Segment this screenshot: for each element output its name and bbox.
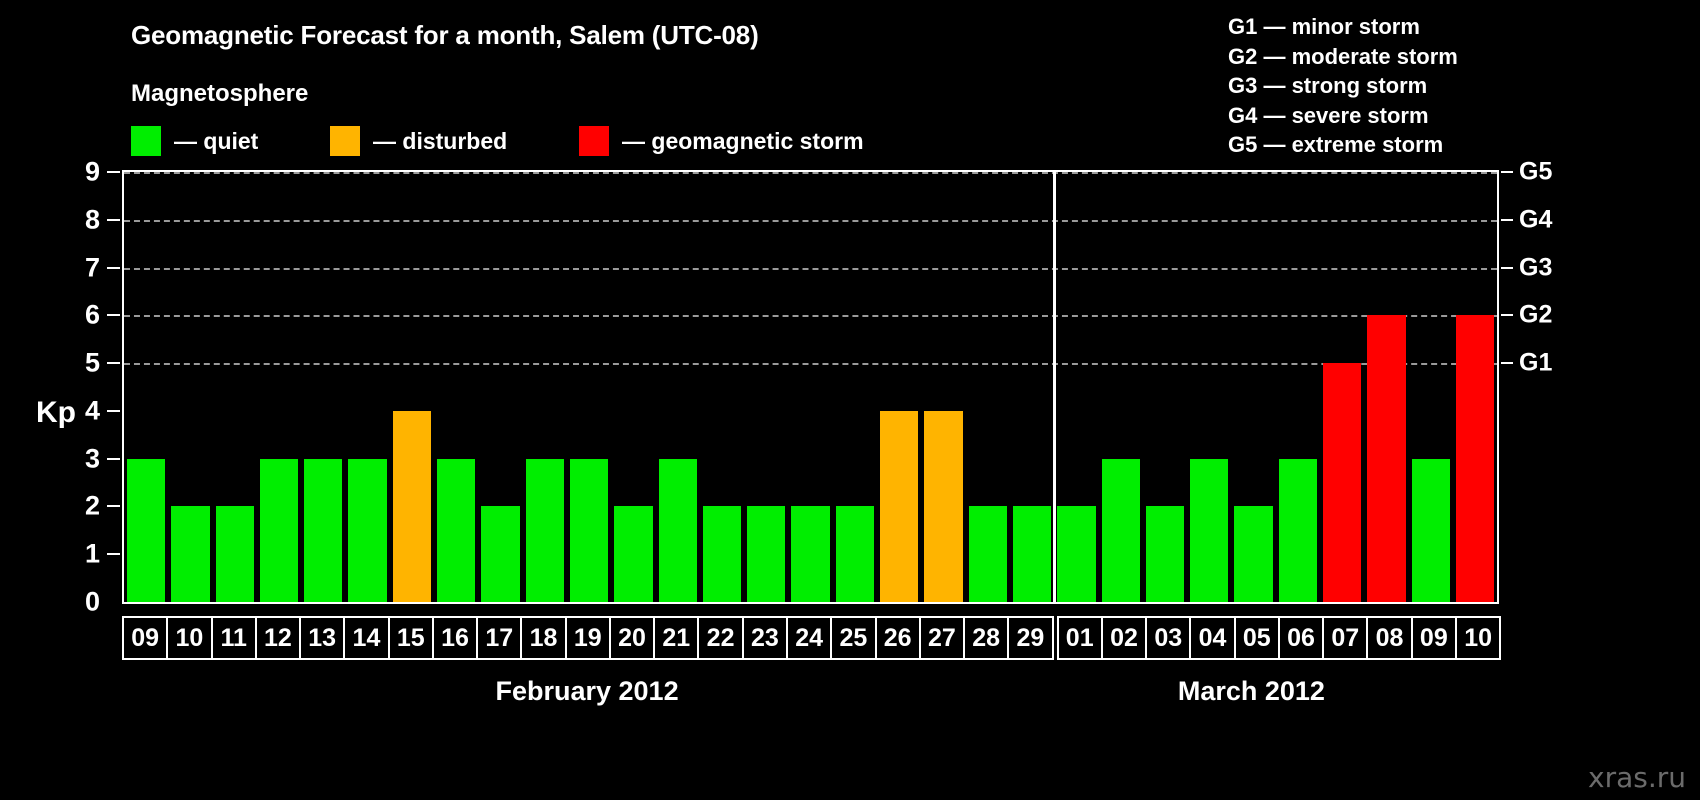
chart-root: Geomagnetic Forecast for a month, Salem …: [0, 0, 1700, 800]
gscale-legend-line-1: G1 — minor storm: [1228, 12, 1458, 42]
bar-slot: [168, 172, 212, 602]
legend-label-quiet: — quiet: [174, 128, 258, 155]
bar-february-21[interactable]: [659, 459, 697, 602]
bar-march-04[interactable]: [1190, 459, 1228, 602]
y-tick-label-7: 7: [85, 252, 100, 283]
date-cell-february-09[interactable]: 09: [122, 616, 168, 660]
g-scale-axis: G1G2G3G4G5: [1501, 170, 1700, 604]
bar-slot: [213, 172, 257, 602]
bar-february-27[interactable]: [924, 411, 962, 602]
legend-swatch-disturbed: [330, 126, 360, 156]
y-tick-label-8: 8: [85, 204, 100, 235]
date-cell-march-02[interactable]: 02: [1101, 616, 1147, 660]
bar-slot: [434, 172, 478, 602]
date-cell-february-17[interactable]: 17: [476, 616, 522, 660]
bar-february-13[interactable]: [304, 459, 342, 602]
date-cell-february-24[interactable]: 24: [786, 616, 832, 660]
bar-february-11[interactable]: [216, 506, 254, 602]
y-tick-label-9: 9: [85, 157, 100, 188]
g-tick-label-G1: G1: [1519, 349, 1552, 378]
bar-slot: [966, 172, 1010, 602]
gscale-legend: G1 — minor stormG2 — moderate stormG3 — …: [1228, 12, 1458, 160]
g-tick-mark-G1: [1501, 362, 1513, 364]
y-tick-mark-6: [107, 314, 120, 316]
gscale-legend-line-2: G2 — moderate storm: [1228, 42, 1458, 72]
bar-march-05[interactable]: [1234, 506, 1272, 602]
bar-february-28[interactable]: [969, 506, 1007, 602]
plot-area: [122, 170, 1499, 604]
legend-label-disturbed: — disturbed: [373, 128, 507, 155]
legend-label-storm: — geomagnetic storm: [622, 128, 864, 155]
bar-slot: [1187, 172, 1231, 602]
y-axis: 0123456789: [0, 170, 122, 604]
g-tick-label-G4: G4: [1519, 205, 1552, 234]
y-tick-label-5: 5: [85, 348, 100, 379]
bar-slot: [1143, 172, 1187, 602]
bar-slot: [257, 172, 301, 602]
month-divider: [1053, 172, 1056, 602]
bar-march-01[interactable]: [1057, 506, 1095, 602]
bar-march-03[interactable]: [1146, 506, 1184, 602]
g-tick-mark-G2: [1501, 314, 1513, 316]
bar-slot: [788, 172, 832, 602]
date-cell-march-05[interactable]: 05: [1234, 616, 1280, 660]
bar-slot: [700, 172, 744, 602]
g-tick-label-G3: G3: [1519, 253, 1552, 282]
y-axis-label: Kp: [36, 396, 76, 430]
bar-february-20[interactable]: [614, 506, 652, 602]
legend-item-disturbed: — disturbed: [330, 126, 507, 156]
date-cell-february-14[interactable]: 14: [343, 616, 389, 660]
bar-slot: [124, 172, 168, 602]
date-cell-february-22[interactable]: 22: [697, 616, 743, 660]
date-cell-february-21[interactable]: 21: [653, 616, 699, 660]
bar-february-24[interactable]: [791, 506, 829, 602]
date-cell-march-01[interactable]: 01: [1057, 616, 1103, 660]
gscale-legend-line-5: G5 — extreme storm: [1228, 130, 1458, 160]
date-cell-february-28[interactable]: 28: [963, 616, 1009, 660]
y-tick-label-3: 3: [85, 443, 100, 474]
gscale-legend-line-3: G3 — strong storm: [1228, 71, 1458, 101]
bar-slot: [1409, 172, 1453, 602]
bar-slot: [833, 172, 877, 602]
date-cell-march-06[interactable]: 06: [1278, 616, 1324, 660]
y-tick-label-2: 2: [85, 491, 100, 522]
bar-february-23[interactable]: [747, 506, 785, 602]
bar-february-26[interactable]: [880, 411, 918, 602]
bar-march-09[interactable]: [1412, 459, 1450, 602]
legend-item-quiet: — quiet: [131, 126, 258, 156]
y-tick-mark-7: [107, 267, 120, 269]
y-tick-mark-8: [107, 219, 120, 221]
g-tick-label-G2: G2: [1519, 301, 1552, 330]
y-tick-label-6: 6: [85, 300, 100, 331]
date-cell-february-20[interactable]: 20: [609, 616, 655, 660]
date-axis: 0910111213141516171819202122232425262728…: [122, 616, 1499, 660]
y-tick-label-4: 4: [85, 395, 100, 426]
y-tick-label-0: 0: [85, 587, 100, 618]
y-tick-mark-9: [107, 171, 120, 173]
chart-title: Geomagnetic Forecast for a month, Salem …: [131, 20, 759, 51]
bar-slot: [1364, 172, 1408, 602]
month-caption-february: February 2012: [122, 676, 1052, 707]
bar-slot: [611, 172, 655, 602]
date-cell-march-04[interactable]: 04: [1189, 616, 1235, 660]
date-cell-february-13[interactable]: 13: [299, 616, 345, 660]
bar-slot: [744, 172, 788, 602]
bar-february-15[interactable]: [393, 411, 431, 602]
date-cell-march-09[interactable]: 09: [1411, 616, 1457, 660]
date-cell-february-27[interactable]: 27: [919, 616, 965, 660]
date-cell-march-08[interactable]: 08: [1366, 616, 1412, 660]
bar-february-19[interactable]: [570, 459, 608, 602]
bar-slot: [523, 172, 567, 602]
g-tick-mark-G5: [1501, 171, 1513, 173]
date-cell-february-29[interactable]: 29: [1007, 616, 1053, 660]
date-cell-march-07[interactable]: 07: [1322, 616, 1368, 660]
legend-swatch-quiet: [131, 126, 161, 156]
chart-subtitle: Magnetosphere: [131, 80, 308, 108]
date-cell-february-19[interactable]: 19: [565, 616, 611, 660]
y-tick-mark-4: [107, 410, 120, 412]
bar-february-12[interactable]: [260, 459, 298, 602]
date-cell-february-12[interactable]: 12: [255, 616, 301, 660]
bar-march-07[interactable]: [1323, 363, 1361, 602]
bar-slot: [567, 172, 611, 602]
date-cell-march-10[interactable]: 10: [1455, 616, 1501, 660]
watermark: xras.ru: [1588, 761, 1686, 794]
g-tick-label-G5: G5: [1519, 158, 1552, 187]
y-tick-mark-3: [107, 458, 120, 460]
bar-february-17[interactable]: [481, 506, 519, 602]
bar-slot: [1099, 172, 1143, 602]
y-tick-mark-1: [107, 553, 120, 555]
legend-swatch-storm: [579, 126, 609, 156]
bar-february-22[interactable]: [703, 506, 741, 602]
date-cell-february-10[interactable]: 10: [166, 616, 212, 660]
g-tick-mark-G3: [1501, 267, 1513, 269]
bar-february-25[interactable]: [836, 506, 874, 602]
bar-march-06[interactable]: [1279, 459, 1317, 602]
y-tick-label-1: 1: [85, 539, 100, 570]
date-cell-february-16[interactable]: 16: [432, 616, 478, 660]
bar-march-10[interactable]: [1456, 315, 1494, 602]
bar-slot: [1320, 172, 1364, 602]
bar-slot: [1231, 172, 1275, 602]
bar-slot: [301, 172, 345, 602]
bar-slot: [1453, 172, 1497, 602]
bar-february-09[interactable]: [127, 459, 165, 602]
legend-item-storm: — geomagnetic storm: [579, 126, 864, 156]
bar-february-10[interactable]: [171, 506, 209, 602]
month-caption-march: March 2012: [1052, 676, 1451, 707]
date-cell-february-15[interactable]: 15: [388, 616, 434, 660]
bar-february-18[interactable]: [526, 459, 564, 602]
bar-slot: [656, 172, 700, 602]
bar-slot: [877, 172, 921, 602]
date-cell-february-11[interactable]: 11: [211, 616, 257, 660]
g-tick-mark-G4: [1501, 219, 1513, 221]
y-tick-mark-2: [107, 505, 120, 507]
bar-february-16[interactable]: [437, 459, 475, 602]
date-cell-february-18[interactable]: 18: [520, 616, 566, 660]
bar-series: [124, 172, 1497, 602]
date-cell-february-23[interactable]: 23: [742, 616, 788, 660]
bar-slot: [1054, 172, 1098, 602]
bar-slot: [390, 172, 434, 602]
bar-slot: [345, 172, 389, 602]
y-tick-mark-5: [107, 362, 120, 364]
date-cell-february-26[interactable]: 26: [875, 616, 921, 660]
bar-march-02[interactable]: [1102, 459, 1140, 602]
date-cell-february-25[interactable]: 25: [830, 616, 876, 660]
date-cell-march-03[interactable]: 03: [1145, 616, 1191, 660]
gscale-legend-line-4: G4 — severe storm: [1228, 101, 1458, 131]
bar-march-08[interactable]: [1367, 315, 1405, 602]
bar-slot: [1010, 172, 1054, 602]
bar-february-29[interactable]: [1013, 506, 1051, 602]
bar-slot: [1276, 172, 1320, 602]
bar-slot: [478, 172, 522, 602]
bar-february-14[interactable]: [348, 459, 386, 602]
bar-slot: [921, 172, 965, 602]
